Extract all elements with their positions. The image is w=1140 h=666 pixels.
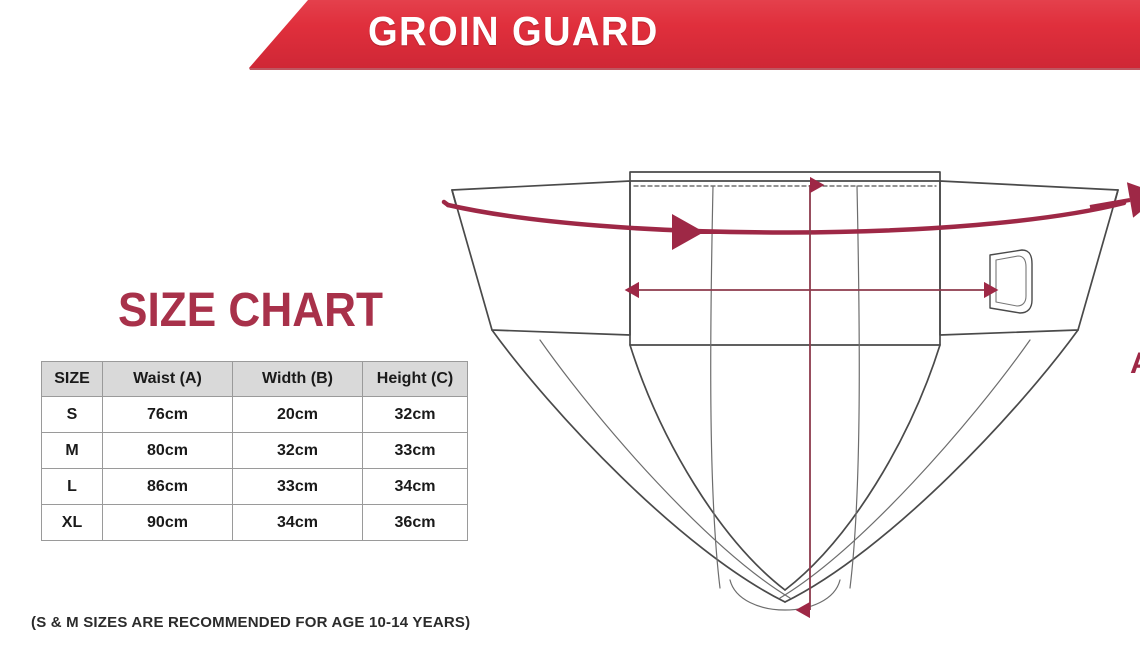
cell-width: 32cm bbox=[233, 433, 363, 469]
table-row: XL 90cm 34cm 36cm bbox=[42, 505, 468, 541]
cell-waist: 86cm bbox=[103, 469, 233, 505]
cell-size: M bbox=[42, 433, 103, 469]
dimension-label-a: A bbox=[1130, 347, 1140, 381]
size-chart-heading: SIZE CHART bbox=[118, 283, 383, 338]
column-header-waist: Waist (A) bbox=[103, 362, 233, 397]
cell-waist: 80cm bbox=[103, 433, 233, 469]
cell-size: S bbox=[42, 397, 103, 433]
cell-waist: 90cm bbox=[103, 505, 233, 541]
groin-guard-drawing bbox=[430, 150, 1140, 650]
cell-width: 33cm bbox=[233, 469, 363, 505]
table-row: L 86cm 33cm 34cm bbox=[42, 469, 468, 505]
cell-waist: 76cm bbox=[103, 397, 233, 433]
header-banner: GROIN GUARD bbox=[0, 0, 1140, 70]
size-chart-table: SIZE Waist (A) Width (B) Height (C) S 76… bbox=[41, 361, 468, 541]
table-row: M 80cm 32cm 33cm bbox=[42, 433, 468, 469]
product-illustration: A B C bbox=[430, 150, 1140, 650]
age-recommendation-note: (S & M SIZES ARE RECOMMENDED FOR AGE 10-… bbox=[31, 614, 470, 631]
column-header-size: SIZE bbox=[42, 362, 103, 397]
waist-measure-left-cap bbox=[444, 202, 448, 205]
cell-size: L bbox=[42, 469, 103, 505]
cell-size: XL bbox=[42, 505, 103, 541]
size-chart-page: GROIN GUARD SIZE CHART SIZE Waist (A) Wi… bbox=[0, 0, 1140, 666]
cell-width: 20cm bbox=[233, 397, 363, 433]
cell-width: 34cm bbox=[233, 505, 363, 541]
table-header-row: SIZE Waist (A) Width (B) Height (C) bbox=[42, 362, 468, 397]
garment-outline bbox=[452, 172, 1118, 610]
column-header-width: Width (B) bbox=[233, 362, 363, 397]
waist-measure-curve bbox=[448, 203, 1124, 233]
page-title: GROIN GUARD bbox=[368, 6, 926, 56]
table-row: S 76cm 20cm 32cm bbox=[42, 397, 468, 433]
